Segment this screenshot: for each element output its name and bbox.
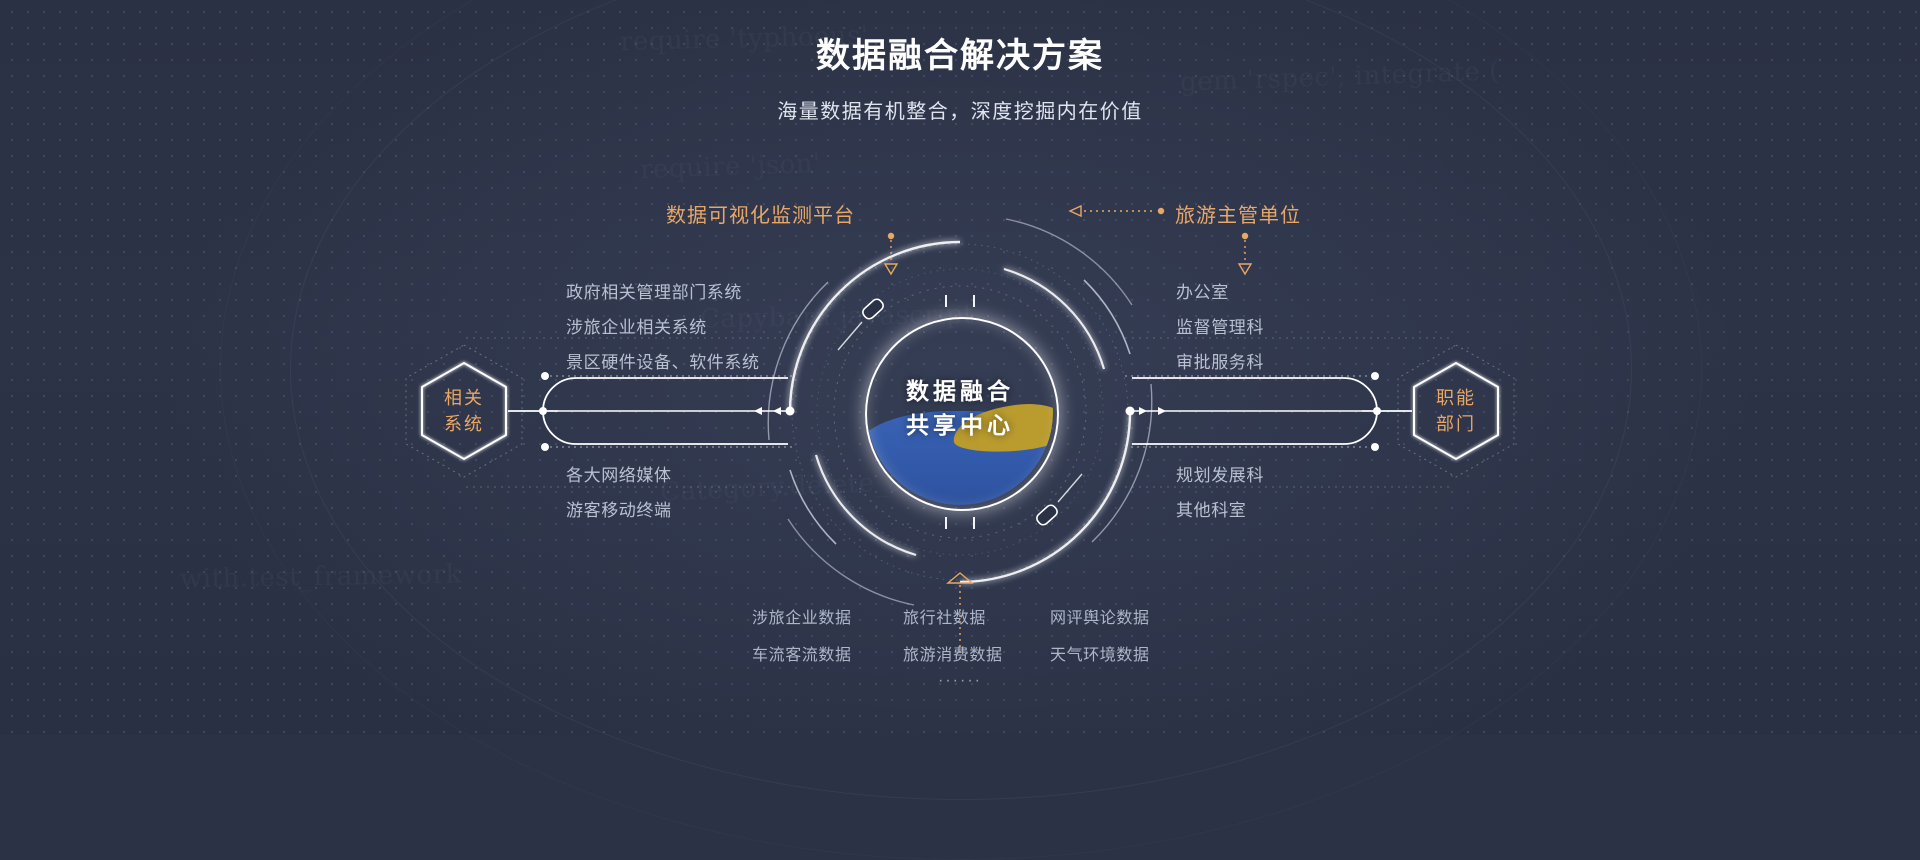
- node-visual-monitor-platform[interactable]: 数据可视化监测平台: [666, 199, 855, 228]
- ring-arc-thin-bl: [788, 519, 914, 605]
- right-item-0[interactable]: 办公室: [1176, 278, 1229, 303]
- top-left-arrow: [885, 264, 897, 274]
- left-arrow-2: [754, 407, 762, 415]
- right-item-3[interactable]: 规划发展科: [1176, 461, 1264, 486]
- ring-arc-thin-tr: [1006, 219, 1132, 305]
- bottom-item-r0c2[interactable]: 网评舆论数据: [1050, 604, 1150, 628]
- right-arrow-1: [1139, 407, 1147, 415]
- left-item-4[interactable]: 游客移动终端: [566, 496, 672, 521]
- right-item-4[interactable]: 其他科室: [1176, 496, 1246, 521]
- left-upper-dot: [541, 372, 549, 380]
- right-hexagon-label: 职能 部门: [1416, 385, 1496, 437]
- hub-label: 数据融合 共享中心: [850, 374, 1070, 442]
- right-hexagon-line1: 职能: [1416, 385, 1496, 411]
- left-lower-dot: [541, 443, 549, 451]
- right-arrow-2: [1158, 407, 1166, 415]
- bottom-ellipsis: ······: [938, 672, 982, 690]
- right-item-2[interactable]: 审批服务科: [1176, 348, 1264, 373]
- right-hexagon-line2: 部门: [1416, 411, 1496, 437]
- ring-tick-bl: [790, 470, 836, 544]
- top-left-dot: [888, 233, 894, 239]
- ring-node-capsule-tl: [861, 297, 885, 321]
- top-mid-dot: [1158, 208, 1164, 214]
- bottom-item-r1c1[interactable]: 旅游消费数据: [903, 641, 1003, 665]
- right-upper-dot: [1371, 372, 1379, 380]
- page-subtitle: 海量数据有机整合，深度挖掘内在价值: [0, 98, 1920, 126]
- ring-tick-tr: [1084, 280, 1130, 354]
- left-item-3[interactable]: 各大网络媒体: [566, 461, 672, 486]
- top-right-arrow: [1239, 264, 1251, 274]
- left-arrow-1: [773, 407, 781, 415]
- hub-label-line1: 数据融合: [850, 374, 1070, 408]
- right-lower-dot: [1371, 443, 1379, 451]
- page-title: 数据融合解决方案: [0, 34, 1920, 78]
- left-item-2[interactable]: 景区硬件设备、软件系统: [566, 348, 760, 373]
- ring-node-capsule-br: [1035, 503, 1059, 527]
- left-hexagon-line1: 相关: [424, 385, 504, 411]
- bottom-item-r1c0[interactable]: 车流客流数据: [752, 641, 852, 665]
- left-item-0[interactable]: 政府相关管理部门系统: [566, 278, 742, 303]
- page-header: 数据融合解决方案 海量数据有机整合，深度挖掘内在价值: [0, 34, 1920, 126]
- bottom-item-r0c0[interactable]: 涉旅企业数据: [752, 604, 852, 628]
- right-item-1[interactable]: 监督管理科: [1176, 313, 1264, 338]
- bottom-item-r1c2[interactable]: 天气环境数据: [1050, 641, 1150, 665]
- top-right-dot: [1242, 233, 1248, 239]
- hub-label-line2: 共享中心: [850, 408, 1070, 442]
- bottom-item-r0c1[interactable]: 旅行社数据: [903, 604, 986, 628]
- left-item-1[interactable]: 涉旅企业相关系统: [566, 313, 707, 338]
- left-hexagon-line2: 系统: [424, 411, 504, 437]
- top-mid-arrowhead: [1070, 206, 1081, 216]
- node-tourism-authority[interactable]: 旅游主管单位: [1175, 199, 1301, 228]
- left-hexagon-label: 相关 系统: [424, 385, 504, 437]
